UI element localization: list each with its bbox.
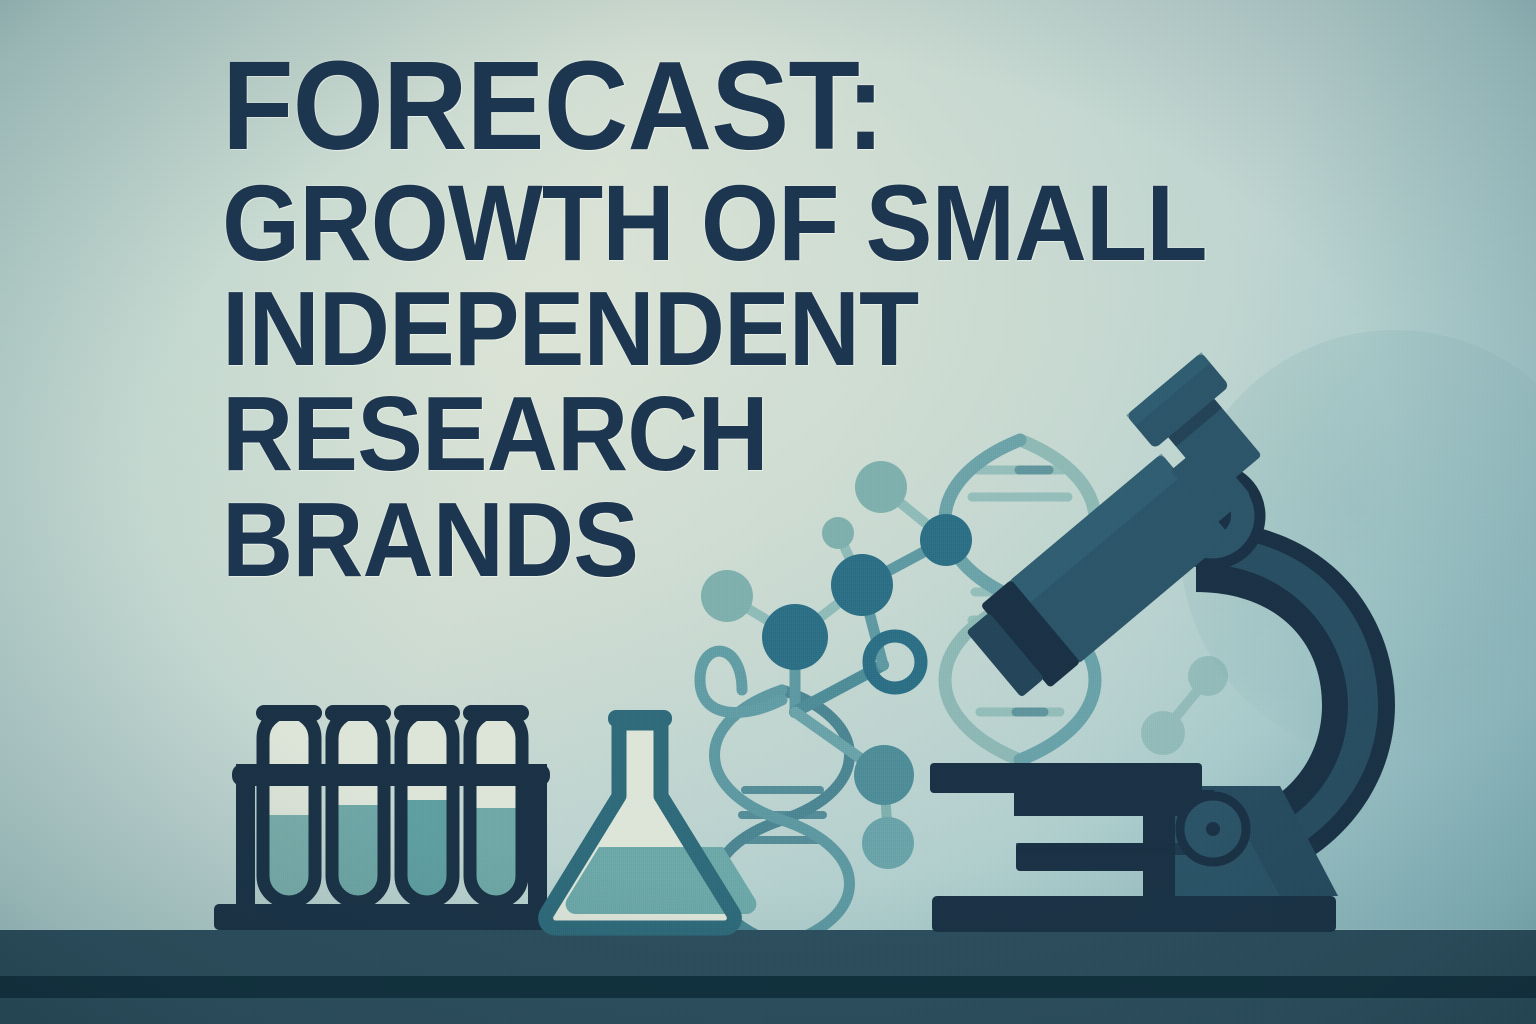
poster-canvas: FORECAST: GROWTH OF SMALL INDEPENDENT RE… [0,0,1536,1024]
vignette-overlay [0,0,1536,1024]
